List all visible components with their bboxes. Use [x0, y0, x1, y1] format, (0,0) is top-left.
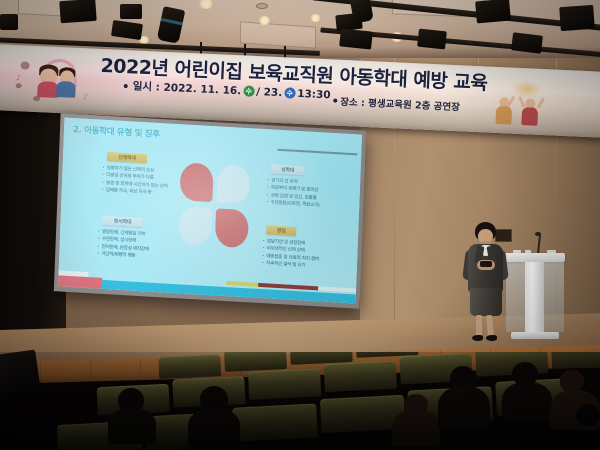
- projection-screen: 2. 아동학대 유형 및 징후 신체학대 설명하기 힘든 신체적 손상 다발성 …: [54, 113, 366, 308]
- podium: [505, 253, 565, 345]
- seat: [158, 354, 221, 379]
- petal-top-right: [216, 164, 250, 204]
- presenter-skirt: [470, 288, 502, 316]
- audience-shoulders: [438, 386, 490, 430]
- presenter-leg-left: [476, 315, 482, 337]
- podium-top: [505, 253, 565, 262]
- audience-seating: [0, 352, 600, 450]
- light-mount: [200, 42, 202, 54]
- podium-column: [525, 262, 544, 332]
- pinwheel-graphic: [178, 162, 253, 250]
- microphone-icon: [535, 232, 541, 236]
- presenter-leg-right: [486, 315, 494, 337]
- petal-bottom-left: [178, 206, 212, 246]
- stage-light: [350, 0, 374, 24]
- loudspeaker: [0, 349, 41, 394]
- stage-light: [0, 14, 18, 30]
- deco-bar-pink: [58, 275, 102, 289]
- audience-head: [560, 370, 584, 392]
- audience-shoulders: [108, 408, 156, 444]
- presentation-slide: 2. 아동학대 유형 및 징후 신체학대 설명하기 힘든 신체적 손상 다발성 …: [58, 117, 362, 303]
- deco-bar-olive: [226, 281, 258, 287]
- podium-panel-right: [544, 262, 564, 332]
- ceiling-light: [258, 16, 271, 25]
- audience-shoulders: [502, 382, 552, 422]
- light-mount: [244, 44, 246, 56]
- petal-bottom-right: [215, 208, 249, 248]
- title-underline: [277, 149, 357, 155]
- ceiling-light: [198, 0, 214, 9]
- presenter-remote: [480, 261, 492, 267]
- petal-top-left: [179, 162, 213, 202]
- slide-title: 2. 아동학대 유형 및 징후: [73, 123, 160, 140]
- badge-physical-abuse: 신체학대: [107, 152, 147, 163]
- light-mount: [284, 46, 286, 58]
- badge-emotional-abuse: 정서학대: [102, 216, 142, 227]
- seat: [232, 403, 318, 441]
- audience-shoulders: [188, 408, 240, 448]
- bullets-sexual-abuse: 성기의 선 상처 회음부의 생채기 및 찰과상 성병 감염 및 임신, 질출혈 …: [266, 177, 320, 210]
- screen-surface: 2. 아동학대 유형 및 징후 신체학대 설명하기 힘든 신체적 손상 다발성 …: [58, 117, 362, 303]
- stage-light: [339, 28, 373, 49]
- presenter: [462, 222, 510, 347]
- ceiling-light: [310, 14, 321, 22]
- seat: [324, 361, 397, 392]
- presenter-shoe-right: [486, 335, 497, 341]
- stage-light: [475, 0, 511, 23]
- seat: [224, 352, 287, 372]
- badge-sexual-abuse: 성학대: [270, 164, 304, 175]
- stage-light: [59, 0, 96, 23]
- smoke-detector-icon: [256, 3, 268, 9]
- auditorium-photo: ♪ ♪ 2022년 어린이집 보육교직원 아동학대 예방 교육 일시 : 202…: [0, 0, 600, 450]
- badge-neglect: 방임: [266, 225, 296, 236]
- presenter-shoe-left: [472, 335, 483, 341]
- deco-bar-white: [318, 286, 356, 292]
- bullets-emotional-abuse: 발달장애, 신체발달 저하 수면장애, 섭식장애 언어장애, 반응성 애착장애 …: [97, 229, 149, 262]
- audience-shoulders: [392, 410, 440, 446]
- bullets-physical-abuse: 설명하기 힘든 신체적 손상 다발성 상처로 부위가 다름 발생 및 회복에 시…: [102, 165, 169, 198]
- seat: [248, 368, 321, 399]
- stage-light: [559, 5, 595, 31]
- stage-light: [511, 32, 543, 54]
- podium-base: [511, 332, 559, 339]
- stage-light: [417, 29, 447, 50]
- stage-light: [120, 4, 142, 19]
- seat: [551, 352, 600, 369]
- audience-head: [576, 404, 600, 426]
- bullets-neglect: 발달지연 및 성장장애 비위생적인 신체 상태 예방접종 및 의료적 처치 결여…: [262, 238, 320, 271]
